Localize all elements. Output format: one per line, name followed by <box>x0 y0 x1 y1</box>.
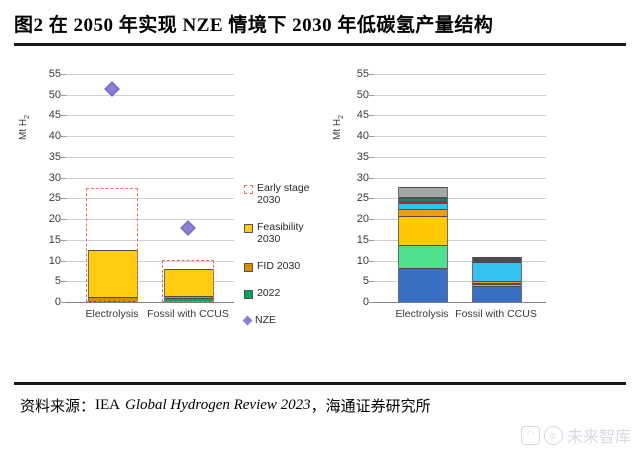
y-axis-tick-mark <box>61 240 66 241</box>
y-axis-tick-mark <box>61 115 66 116</box>
left-chart: Mt H2 0510152025303540455055Electrolysis… <box>16 62 326 330</box>
y-axis-tick-label: 15 <box>49 234 61 246</box>
y-axis-tick-mark <box>369 240 374 241</box>
legend-swatch-icon <box>244 224 253 233</box>
y-axis-tick-mark <box>369 198 374 199</box>
y-axis-tick-label: 45 <box>49 109 61 121</box>
y-axis-tick-mark <box>61 178 66 179</box>
y-axis-tick-label: 35 <box>49 151 61 163</box>
legend-item-feasibility-2030[interactable]: Feasibility 2030 <box>244 221 328 245</box>
right-chart-plot-area: 0510152025303540455055ElectrolysisFossil… <box>374 74 546 303</box>
y-axis-tick-mark <box>369 115 374 116</box>
y-axis-tick-mark <box>61 157 66 158</box>
bar-segment-india[interactable] <box>399 209 447 216</box>
watermark-badge-icon: ◠ <box>521 426 540 445</box>
gridline <box>374 74 546 75</box>
source-prefix: 资料来源： <box>20 395 95 416</box>
y-axis-tick-label: 15 <box>357 234 369 246</box>
y-axis-tick-label: 10 <box>49 255 61 267</box>
x-axis-label-electrolysis: Electrolysis <box>395 308 448 320</box>
y-axis-tick-mark <box>369 157 374 158</box>
y-axis-tick-label: 25 <box>357 192 369 204</box>
bar-electrolysis[interactable] <box>398 187 448 302</box>
bar-segment-latin-america[interactable] <box>399 216 447 245</box>
y-axis-tick-mark <box>61 219 66 220</box>
figure-title-bar: 图2 在 2050 年实现 NZE 情境下 2030 年低碳氢产量结构 <box>14 4 626 42</box>
y-axis-tick-label: 40 <box>357 130 369 142</box>
left-chart-legend: Early stage 2030Feasibility 2030FID 2030… <box>244 182 328 341</box>
gridline <box>66 157 234 158</box>
legend-item-label: Feasibility 2030 <box>257 221 328 245</box>
source-note: 资料来源： IEA Global Hydrogen Review 2023 ，海… <box>20 392 620 418</box>
y-axis-tick-label: 5 <box>363 275 369 287</box>
gridline <box>374 136 546 137</box>
early-stage-outline-1 <box>162 260 214 302</box>
y-axis-tick-label: 20 <box>357 213 369 225</box>
watermark-circle-icon: ◎ <box>544 426 563 445</box>
source-agency: IEA <box>95 397 120 414</box>
early-stage-outline-0 <box>86 188 138 302</box>
legend-item-fid-2030[interactable]: FID 2030 <box>244 260 328 272</box>
watermark: ◠ ◎ 未来智库 <box>521 421 633 449</box>
bottom-divider <box>14 382 626 385</box>
gridline <box>66 136 234 137</box>
legend-swatch-icon <box>244 263 253 272</box>
top-divider <box>14 43 626 46</box>
figure-page: 图2 在 2050 年实现 NZE 情境下 2030 年低碳氢产量结构 Mt H… <box>0 0 640 456</box>
y-axis-tick-label: 35 <box>357 151 369 163</box>
y-axis-tick-mark <box>369 74 374 75</box>
y-axis-tick-mark <box>369 219 374 220</box>
y-axis-tick-label: 40 <box>49 130 61 142</box>
y-axis-tick-label: 10 <box>357 255 369 267</box>
gridline <box>374 178 546 179</box>
y-axis-tick-mark <box>369 136 374 137</box>
y-axis-tick-mark <box>61 302 66 303</box>
y-axis-tick-label: 20 <box>49 213 61 225</box>
y-axis-tick-mark <box>61 198 66 199</box>
page-title: 图2 在 2050 年实现 NZE 情境下 2030 年低碳氢产量结构 <box>14 10 493 37</box>
legend-swatch-icon <box>243 316 253 326</box>
left-chart-y-axis-label: Mt H2 <box>18 115 31 140</box>
bar-segment-australia-and-new-zealand[interactable] <box>399 245 447 268</box>
gridline <box>374 157 546 158</box>
right-chart: Mt H2 0510152025303540455055Electrolysis… <box>330 62 636 330</box>
y-axis-tick-mark <box>61 136 66 137</box>
y-axis-tick-mark <box>369 302 374 303</box>
x-axis-label-electrolysis: Electrolysis <box>85 308 138 320</box>
bar-segment-europe[interactable] <box>473 286 521 302</box>
y-axis-tick-label: 55 <box>357 68 369 80</box>
y-axis-tick-label: 55 <box>49 68 61 80</box>
y-axis-tick-label: 30 <box>49 172 61 184</box>
y-axis-tick-label: 30 <box>357 172 369 184</box>
legend-item-early-stage-2030[interactable]: Early stage 2030 <box>244 182 328 206</box>
y-axis-tick-mark <box>369 281 374 282</box>
nze-marker-1 <box>180 220 196 236</box>
legend-item-label: 2022 <box>257 287 280 299</box>
source-suffix: ，海通证券研究所 <box>311 395 431 416</box>
y-axis-tick-label: 0 <box>55 296 61 308</box>
y-axis-tick-label: 50 <box>357 89 369 101</box>
bar-segment-europe[interactable] <box>399 268 447 302</box>
bar-fossil-with-ccus[interactable] <box>472 257 522 302</box>
gridline <box>66 95 234 96</box>
legend-swatch-icon <box>244 290 253 299</box>
right-chart-y-axis-label: Mt H2 <box>332 115 345 140</box>
y-axis-tick-label: 50 <box>49 89 61 101</box>
y-axis-tick-label: 45 <box>357 109 369 121</box>
legend-item-label: NZE <box>255 314 276 326</box>
y-axis-tick-mark <box>369 95 374 96</box>
gridline <box>66 178 234 179</box>
y-axis-tick-mark <box>61 74 66 75</box>
y-axis-tick-label: 25 <box>49 192 61 204</box>
y-axis-tick-mark <box>61 95 66 96</box>
gridline <box>374 95 546 96</box>
legend-item-2022[interactable]: 2022 <box>244 287 328 299</box>
y-axis-tick-mark <box>61 281 66 282</box>
y-axis-tick-mark <box>369 261 374 262</box>
bar-segment-united-states[interactable] <box>473 262 521 281</box>
y-axis-tick-mark <box>61 261 66 262</box>
legend-swatch-icon <box>244 185 253 194</box>
y-axis-tick-label: 5 <box>55 275 61 287</box>
legend-item-label: Early stage 2030 <box>257 182 328 206</box>
bar-segment-row[interactable] <box>399 187 447 197</box>
x-axis-label-fossil-with-ccus: Fossil with CCUS <box>147 308 229 320</box>
watermark-text: 未来智库 <box>567 423 631 447</box>
gridline <box>66 115 234 116</box>
x-axis-label-fossil-with-ccus: Fossil with CCUS <box>455 308 537 320</box>
gridline <box>374 115 546 116</box>
legend-item-label: FID 2030 <box>257 260 300 272</box>
left-chart-plot-area: 0510152025303540455055ElectrolysisFossil… <box>66 74 234 303</box>
y-axis-tick-mark <box>369 178 374 179</box>
y-axis-tick-label: 0 <box>363 296 369 308</box>
legend-item-nze[interactable]: NZE <box>244 314 328 326</box>
source-report: Global Hydrogen Review 2023 <box>125 397 311 414</box>
gridline <box>66 74 234 75</box>
